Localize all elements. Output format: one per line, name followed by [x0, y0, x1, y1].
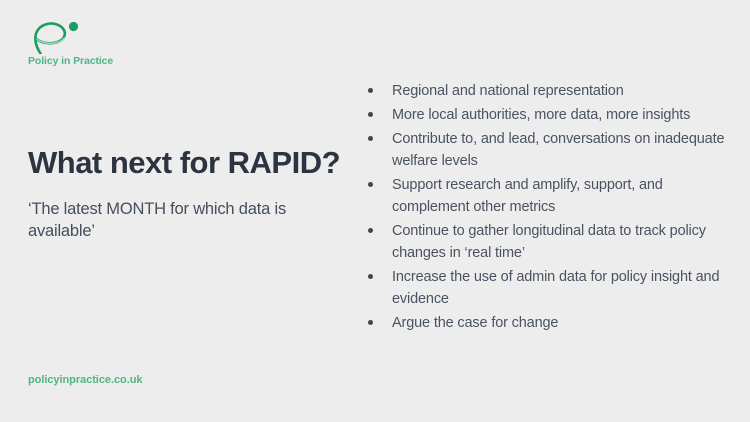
bullet-marker-icon — [368, 228, 373, 233]
list-item-label: Support research and amplify, support, a… — [392, 177, 663, 215]
bullet-marker-icon — [368, 182, 373, 187]
slide: Policy in Practice What next for RAPID? … — [0, 0, 750, 422]
bullet-marker-icon — [368, 88, 373, 93]
list-item-label: More local authorities, more data, more … — [392, 107, 690, 123]
list-item-label: Continue to gather longitudinal data to … — [392, 223, 706, 261]
list-item: Continue to gather longitudinal data to … — [362, 220, 730, 264]
bullet-marker-icon — [368, 112, 373, 117]
list-item: Increase the use of admin data for polic… — [362, 266, 730, 310]
bullet-marker-icon — [368, 274, 373, 279]
list-item-label: Increase the use of admin data for polic… — [392, 269, 719, 307]
list-item-label: Contribute to, and lead, conversations o… — [392, 131, 724, 169]
list-item-label: Regional and national representation — [392, 83, 624, 99]
list-item: Argue the case for change — [362, 312, 730, 334]
page-title: What next for RAPID? — [28, 145, 348, 181]
list-item: Regional and national representation — [362, 80, 730, 102]
footer-website-url: policyinpractice.co.uk — [28, 374, 142, 386]
list-item-label: Argue the case for change — [392, 315, 558, 331]
page-subtitle: ‘The latest MONTH for which data is avai… — [28, 199, 348, 243]
left-column: What next for RAPID? ‘The latest MONTH f… — [28, 145, 348, 242]
list-item: Support research and amplify, support, a… — [362, 174, 730, 218]
logo: Policy in Practice — [26, 20, 146, 70]
bullet-marker-icon — [368, 136, 373, 141]
bullet-marker-icon — [368, 320, 373, 325]
list-item: More local authorities, more data, more … — [362, 104, 730, 126]
policy-in-practice-logo-icon — [26, 20, 88, 54]
list-item: Contribute to, and lead, conversations o… — [362, 128, 730, 172]
logo-wordmark: Policy in Practice — [28, 55, 146, 67]
bullet-list: Regional and national representation Mor… — [362, 80, 730, 336]
